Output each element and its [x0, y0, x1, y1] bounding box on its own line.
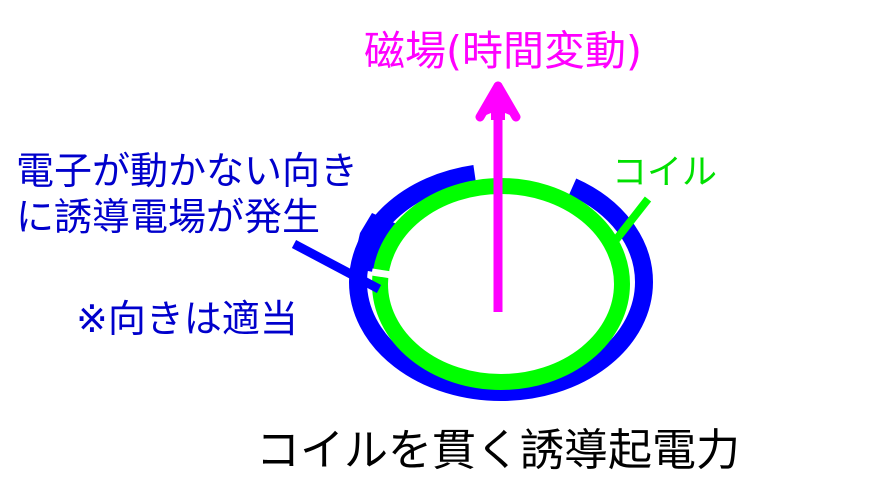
direction-caveat-note: ※向きは適当 [76, 296, 298, 342]
bottom-caption: コイルを貫く誘導起電力 [256, 424, 740, 478]
figure-canvas: 磁場(時間変動) 電子が動かない向き に誘導電場が発生 ※向きは適当 コイル コ… [0, 0, 896, 499]
magnetic-field-label: 磁場(時間変動) [364, 26, 642, 76]
induced-field-note-line1: 電子が動かない向き [16, 149, 358, 193]
induced-field-note-line2: に誘導電場が発生 [16, 194, 358, 240]
coil-ring-gap-mask [372, 272, 398, 276]
magnetic-field-arrow-group [479, 84, 517, 312]
induced-field-note: 電子が動かない向き に誘導電場が発生 [16, 148, 358, 241]
coil-label: コイル [612, 152, 717, 195]
